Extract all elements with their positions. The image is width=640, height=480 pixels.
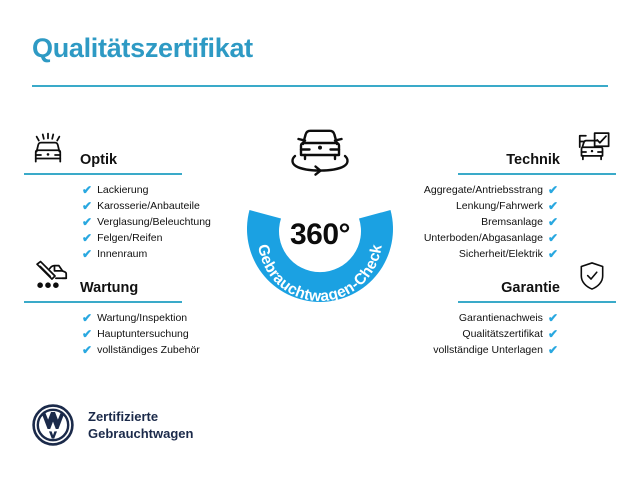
list-item: ✔Bremsanlage (400, 214, 616, 230)
list-item-label: Qualitätszertifikat (462, 326, 543, 342)
section-wartung-header: Wartung (24, 256, 240, 296)
check-icon: ✔ (82, 312, 92, 324)
list-item: ✔Verglasung/Beleuchtung (82, 214, 240, 230)
list-item: ✔vollständiges Zubehör (82, 342, 240, 358)
car-service-tool-icon (24, 256, 72, 296)
list-item: ✔Garantienachweis (400, 310, 616, 326)
section-optik-divider (24, 173, 182, 175)
page-title: Qualitätszertifikat (32, 33, 253, 64)
list-item: ✔Hauptuntersuchung (82, 326, 240, 342)
list-item: ✔vollständige Unterlagen (400, 342, 616, 358)
check-icon: ✔ (82, 328, 92, 340)
list-item-label: Hauptuntersuchung (97, 326, 189, 342)
list-item: ✔Wartung/Inspektion (82, 310, 240, 326)
section-wartung-title: Wartung (72, 281, 240, 297)
list-item-label: Lenkung/Fahrwerk (456, 198, 543, 214)
section-technik: Technik ✔Aggregate/Antriebsstrang ✔Lenku… (400, 128, 616, 262)
section-wartung-list: ✔Wartung/Inspektion ✔Hauptuntersuchung ✔… (24, 310, 240, 358)
section-garantie-list: ✔Garantienachweis ✔Qualitätszertifikat ✔… (400, 310, 616, 358)
check-icon: ✔ (82, 184, 92, 196)
list-item-label: Karosserie/Anbauteile (97, 198, 200, 214)
list-item: ✔Unterboden/Abgasanlage (400, 230, 616, 246)
volkswagen-logo-icon (32, 404, 74, 446)
header-divider (32, 85, 608, 87)
section-optik: Optik ✔Lackierung ✔Karosserie/Anbauteile… (24, 128, 240, 262)
list-item: ✔Aggregate/Antriebsstrang (400, 182, 616, 198)
check-icon: ✔ (548, 328, 558, 340)
section-garantie-title: Garantie (400, 281, 568, 297)
list-item: ✔Qualitätszertifikat (400, 326, 616, 342)
list-item: ✔Lenkung/Fahrwerk (400, 198, 616, 214)
list-item-label: vollständige Unterlagen (433, 342, 543, 358)
check-icon: ✔ (82, 216, 92, 228)
footer-brand: Zertifizierte Gebrauchtwagen (32, 404, 193, 446)
section-technik-divider (458, 173, 616, 175)
list-item-label: Aggregate/Antriebsstrang (424, 182, 543, 198)
list-item-label: Bremsanlage (481, 214, 543, 230)
section-garantie: Garantie ✔Garantienachweis ✔Qualitätszer… (400, 256, 616, 358)
list-item: ✔Lackierung (82, 182, 240, 198)
check-icon: ✔ (548, 232, 558, 244)
section-optik-header: Optik (24, 128, 240, 168)
list-item-label: Verglasung/Beleuchtung (97, 214, 211, 230)
section-optik-title: Optik (72, 153, 240, 169)
check-icon: ✔ (548, 184, 558, 196)
list-item: ✔Karosserie/Anbauteile (82, 198, 240, 214)
list-item-label: Wartung/Inspektion (97, 310, 187, 326)
check-icon: ✔ (82, 344, 92, 356)
section-optik-list: ✔Lackierung ✔Karosserie/Anbauteile ✔Verg… (24, 182, 240, 262)
footer-label: Zertifizierte Gebrauchtwagen (88, 408, 193, 442)
section-garantie-header: Garantie (400, 256, 616, 296)
section-technik-list: ✔Aggregate/Antriebsstrang ✔Lenkung/Fahrw… (400, 182, 616, 262)
section-wartung-divider (24, 301, 182, 303)
shield-check-icon (568, 256, 616, 296)
list-item: ✔Felgen/Reifen (82, 230, 240, 246)
list-item-label: Felgen/Reifen (97, 230, 162, 246)
list-item-label: Garantienachweis (459, 310, 543, 326)
car-checkbox-icon (568, 128, 616, 168)
check-icon: ✔ (548, 344, 558, 356)
check-icon: ✔ (548, 216, 558, 228)
car-wash-icon (24, 128, 72, 168)
section-garantie-divider (458, 301, 616, 303)
list-item-label: Unterboden/Abgasanlage (424, 230, 543, 246)
section-technik-title: Technik (400, 153, 568, 169)
section-wartung: Wartung ✔Wartung/Inspektion ✔Hauptunters… (24, 256, 240, 358)
check-icon: ✔ (548, 200, 558, 212)
gebrauchtwagen-check-badge: Gebrauchtwagen-Check 360° (224, 122, 416, 312)
list-item-label: Lackierung (97, 182, 148, 198)
section-technik-header: Technik (400, 128, 616, 168)
check-icon: ✔ (82, 232, 92, 244)
check-icon: ✔ (82, 200, 92, 212)
badge-degrees: 360° (224, 218, 416, 252)
check-icon: ✔ (548, 312, 558, 324)
list-item-label: vollständiges Zubehör (97, 342, 200, 358)
